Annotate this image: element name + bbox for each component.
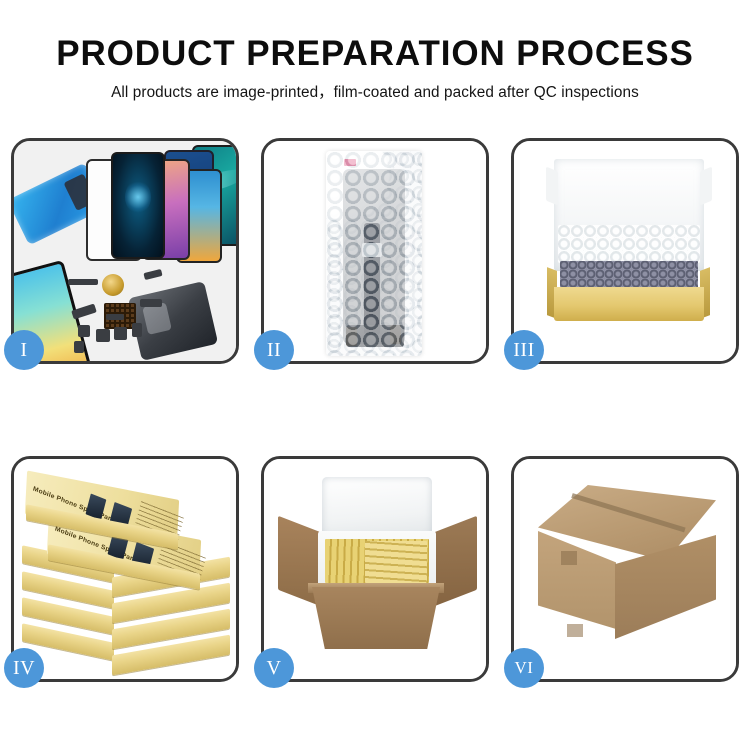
step-1-image [14, 141, 236, 361]
carton-flap-tab [561, 551, 577, 565]
step-3-image [514, 141, 736, 361]
small-part [74, 341, 84, 353]
carton-body [312, 587, 440, 649]
carton-flap-tab [567, 624, 583, 637]
process-step-6: VI [511, 456, 739, 682]
process-step-4: Mobile Phone Spare Parts Mobile Phone Sp… [11, 456, 239, 682]
lcd-connector [362, 243, 382, 257]
step-badge-1: I [4, 330, 44, 370]
small-part [140, 299, 162, 307]
step-6-image [514, 459, 736, 679]
small-part [68, 279, 98, 285]
small-part [96, 329, 110, 342]
packed-yellow-boxes [365, 541, 427, 583]
page-subtitle: All products are image-printed，film-coat… [0, 83, 750, 102]
carton-left-face [538, 531, 616, 629]
small-part [143, 269, 162, 280]
step-badge-2: II [254, 330, 294, 370]
step-badge-4: IV [4, 648, 44, 688]
gold-coil-part [102, 274, 124, 296]
box-front-wall [554, 287, 704, 321]
process-step-grid: I II [11, 138, 739, 720]
step-2-image [264, 141, 486, 361]
small-part [114, 327, 127, 340]
header: PRODUCT PREPARATION PROCESS All products… [0, 34, 750, 102]
lcd-flex-cable [364, 223, 380, 335]
phone-back-housing [128, 281, 218, 361]
dark-swirl-phone [111, 152, 165, 259]
step-badge-6: VI [504, 648, 544, 688]
step-badge-3: III [504, 330, 544, 370]
process-step-3: III [511, 138, 739, 364]
lcd-base-connector [346, 325, 404, 347]
product-preparation-infographic: PRODUCT PREPARATION PROCESS All products… [0, 0, 750, 750]
step-badge-5: V [254, 648, 294, 688]
small-part [132, 323, 142, 337]
box-stack: Mobile Phone Spare Parts Mobile Phone Sp… [20, 481, 234, 667]
process-step-2: II [261, 138, 489, 364]
grey-padding-insert [560, 261, 698, 289]
step-5-image [264, 459, 486, 679]
foam-layer [558, 225, 700, 263]
small-part [106, 314, 124, 320]
process-step-1: I [11, 138, 239, 364]
process-step-5: V [261, 456, 489, 682]
step-4-image: Mobile Phone Spare Parts Mobile Phone Sp… [14, 459, 236, 679]
small-part [78, 325, 90, 337]
bubble-wrap-package [326, 151, 422, 356]
styrofoam-lid [322, 477, 432, 537]
page-title: PRODUCT PREPARATION PROCESS [0, 34, 750, 74]
pink-qc-sticker [344, 159, 356, 166]
